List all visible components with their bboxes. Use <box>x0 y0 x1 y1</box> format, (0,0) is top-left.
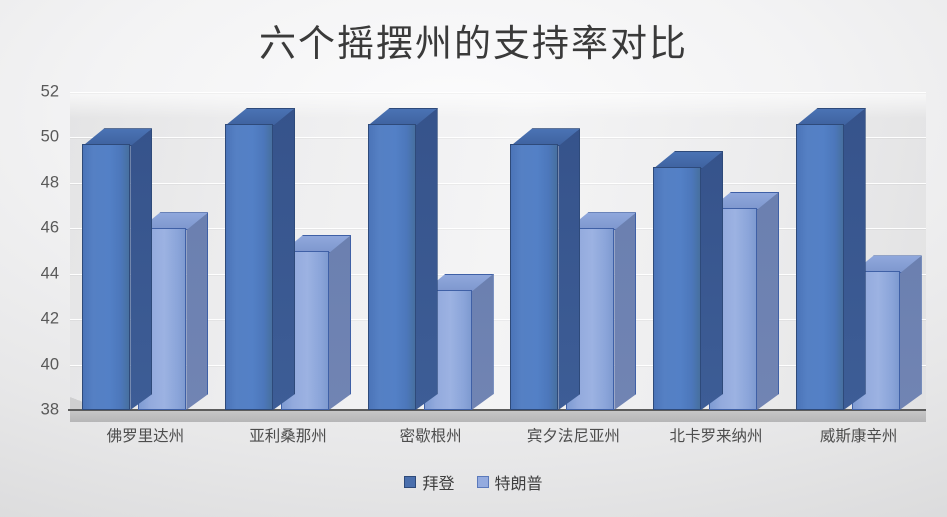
gridline <box>70 92 926 93</box>
y-axis-tick-label: 50 <box>19 128 59 147</box>
legend-swatch-icon <box>477 476 489 488</box>
x-axis-label-4: 北卡罗来纳州 <box>669 424 762 446</box>
bar-biden-2[interactable] <box>368 124 416 410</box>
bar-side-face <box>844 108 866 410</box>
x-axis-label-1: 亚利桑那州 <box>249 424 327 446</box>
bar-side-face <box>757 192 779 410</box>
bar-front-face <box>510 144 558 410</box>
bar-front-face <box>368 124 416 410</box>
x-axis-label-2: 密歇根州 <box>400 424 462 446</box>
bar-front-face <box>225 124 273 410</box>
bar-biden-5[interactable] <box>796 124 844 410</box>
bar-side-face <box>329 235 351 410</box>
legend-label: 拜登 <box>422 470 454 494</box>
legend-item-trump[interactable]: 特朗普 <box>477 470 543 494</box>
y-axis-tick-label: 44 <box>19 264 59 283</box>
y-axis-tick-label: 42 <box>19 310 59 329</box>
bar-side-face <box>701 151 723 410</box>
legend-label: 特朗普 <box>495 470 543 494</box>
y-axis-tick-label: 38 <box>19 401 59 420</box>
bar-biden-4[interactable] <box>653 167 701 410</box>
plot-area <box>70 92 926 410</box>
bar-biden-0[interactable] <box>82 144 130 410</box>
bar-side-face <box>558 128 580 410</box>
chart-legend: 拜登特朗普 <box>0 470 947 494</box>
y-axis-tick-label: 40 <box>19 355 59 374</box>
y-axis-tick-label: 46 <box>19 219 59 238</box>
x-axis-label-5: 威斯康辛州 <box>820 424 898 446</box>
bar-front-face <box>82 144 130 410</box>
bar-side-face <box>614 212 636 410</box>
bar-biden-3[interactable] <box>510 144 558 410</box>
bar-side-face <box>273 108 295 410</box>
legend-swatch-icon <box>404 476 416 488</box>
bar-side-face <box>900 255 922 410</box>
bar-side-face <box>416 108 438 410</box>
x-axis-label-3: 宾夕法尼亚州 <box>527 424 620 446</box>
bar-biden-1[interactable] <box>225 124 273 410</box>
x-axis-label-0: 佛罗里达州 <box>107 424 185 446</box>
y-axis-tick-label: 48 <box>19 173 59 192</box>
bar-front-face <box>653 167 701 410</box>
bar-side-face <box>130 128 152 410</box>
bar-front-face <box>796 124 844 410</box>
y-axis-tick-label: 52 <box>19 83 59 102</box>
chart-canvas: 六个摇摆州的支持率对比 5250484644424038 佛罗里达州亚利桑那州密… <box>0 0 947 517</box>
legend-item-biden[interactable]: 拜登 <box>404 470 454 494</box>
bar-side-face <box>472 274 494 410</box>
chart-title: 六个摇摆州的支持率对比 <box>0 13 947 67</box>
bar-side-face <box>186 212 208 410</box>
